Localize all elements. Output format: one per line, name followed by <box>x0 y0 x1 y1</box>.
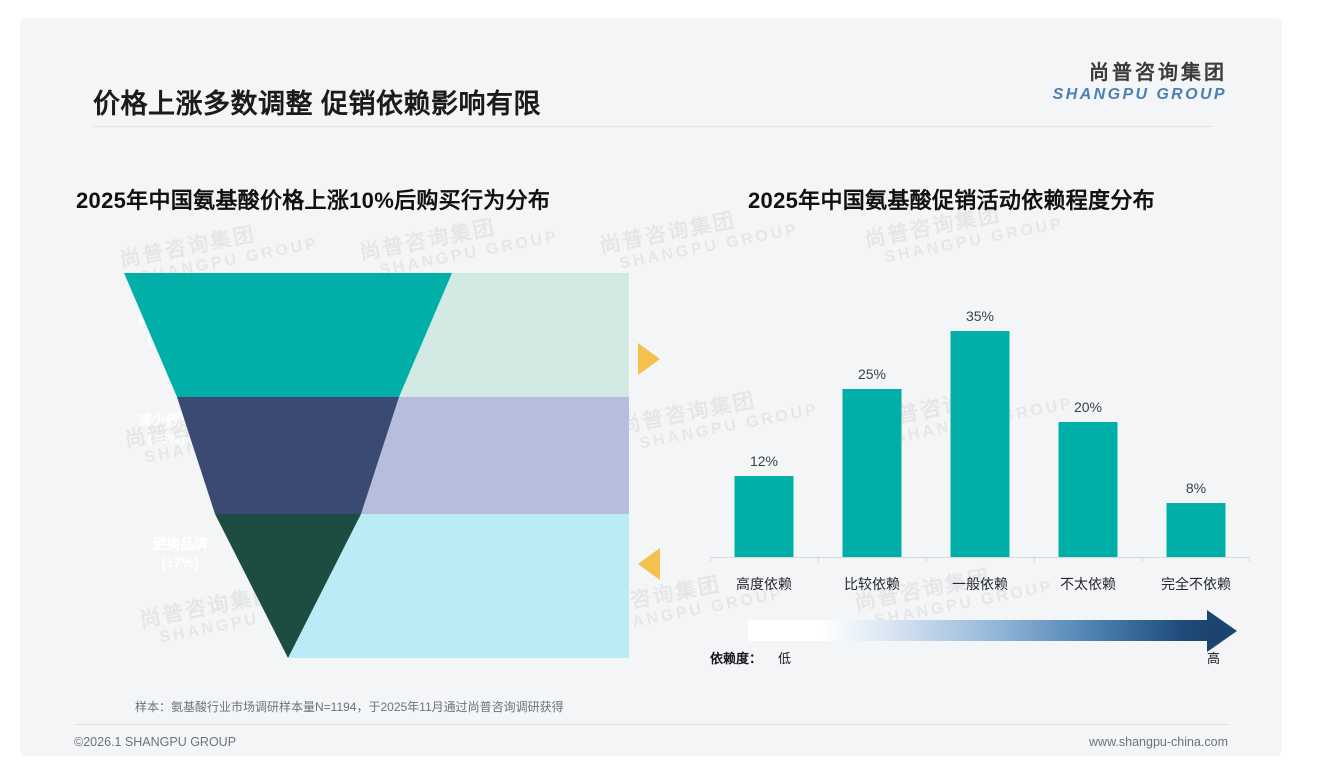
legend-high-label: 高 <box>1207 648 1220 667</box>
bar-2 <box>951 331 1010 557</box>
bar-4 <box>1167 503 1226 557</box>
bar-chart: 12% 25% 35% 20% 8% <box>710 288 1250 558</box>
footer-website[interactable]: www.shangpu-china.com <box>1089 735 1228 749</box>
watermark-en: SHANGPU GROUP <box>867 215 1065 270</box>
funnel-svg <box>104 273 629 658</box>
logo-english-text: SHANGPU GROUP <box>1053 85 1227 104</box>
bar-column-2: 35% <box>926 287 1034 557</box>
bar-x-label-0: 高度依赖 <box>704 574 824 594</box>
arrow-right-icon <box>638 343 660 375</box>
funnel-slice-0 <box>124 273 452 397</box>
bar-value-3: 20% <box>1074 399 1102 415</box>
logo-chinese-text: 尚普咨询集团 <box>1053 62 1227 85</box>
gradient-bar <box>748 620 1210 641</box>
watermark-cn: 尚普咨询集团 <box>118 211 317 272</box>
bar-value-4: 8% <box>1186 480 1206 496</box>
bar-column-4: 8% <box>1142 287 1250 557</box>
header-divider <box>93 126 1213 127</box>
left-chart-title: 2025年中国氨基酸价格上涨10%后购买行为分布 <box>76 183 550 215</box>
bar-value-1: 25% <box>858 366 886 382</box>
footer-copyright: ©2026.1 SHANGPU GROUP <box>74 735 236 749</box>
brand-logo: 尚普咨询集团 SHANGPU GROUP <box>1053 62 1227 104</box>
bar-x-label-2: 一般依赖 <box>920 574 1040 594</box>
funnel-slice-1 <box>177 397 399 514</box>
bar-column-0: 12% <box>710 287 818 557</box>
slide-canvas: 尚普咨询集团 SHANGPU GROUP 尚普咨询集团 SHANGPU GROU… <box>20 18 1282 756</box>
bar-value-0: 12% <box>750 453 778 469</box>
arrow-left-icon <box>638 548 660 580</box>
bar-1 <box>843 389 902 557</box>
gradient-arrow-head-icon <box>1207 610 1237 652</box>
right-chart-title: 2025年中国氨基酸促销活动依赖程度分布 <box>748 183 1155 215</box>
bar-x-label-4: 完全不依赖 <box>1136 574 1256 594</box>
legend-low-label: 低 <box>778 648 791 667</box>
dependency-legend: 依赖度： 低 高 <box>710 614 1255 670</box>
legend-caption: 依赖度： <box>710 648 762 667</box>
bar-column-3: 20% <box>1034 287 1142 557</box>
watermark: 尚普咨询集团 SHANGPU GROUP <box>358 204 560 282</box>
footer-divider <box>74 724 1229 725</box>
slide-header: 价格上涨多数调整 促销依赖影响有限 尚普咨询集团 SHANGPU GROUP <box>20 18 1282 118</box>
bar-chart-x-axis <box>710 557 1250 558</box>
page-title: 价格上涨多数调整 促销依赖影响有限 <box>93 82 541 121</box>
bar-x-label-3: 不太依赖 <box>1028 574 1148 594</box>
bar-x-label-1: 比较依赖 <box>812 574 932 594</box>
bar-0 <box>735 476 794 557</box>
funnel-chart <box>104 273 629 658</box>
watermark-en: SHANGPU GROUP <box>602 221 800 276</box>
bar-value-2: 35% <box>966 308 994 324</box>
bar-3 <box>1059 422 1118 557</box>
bar-column-1: 25% <box>818 287 926 557</box>
sample-footnote: 样本：氨基酸行业市场调研样本量N=1194，于2025年11月通过尚普咨询调研获… <box>135 698 564 715</box>
